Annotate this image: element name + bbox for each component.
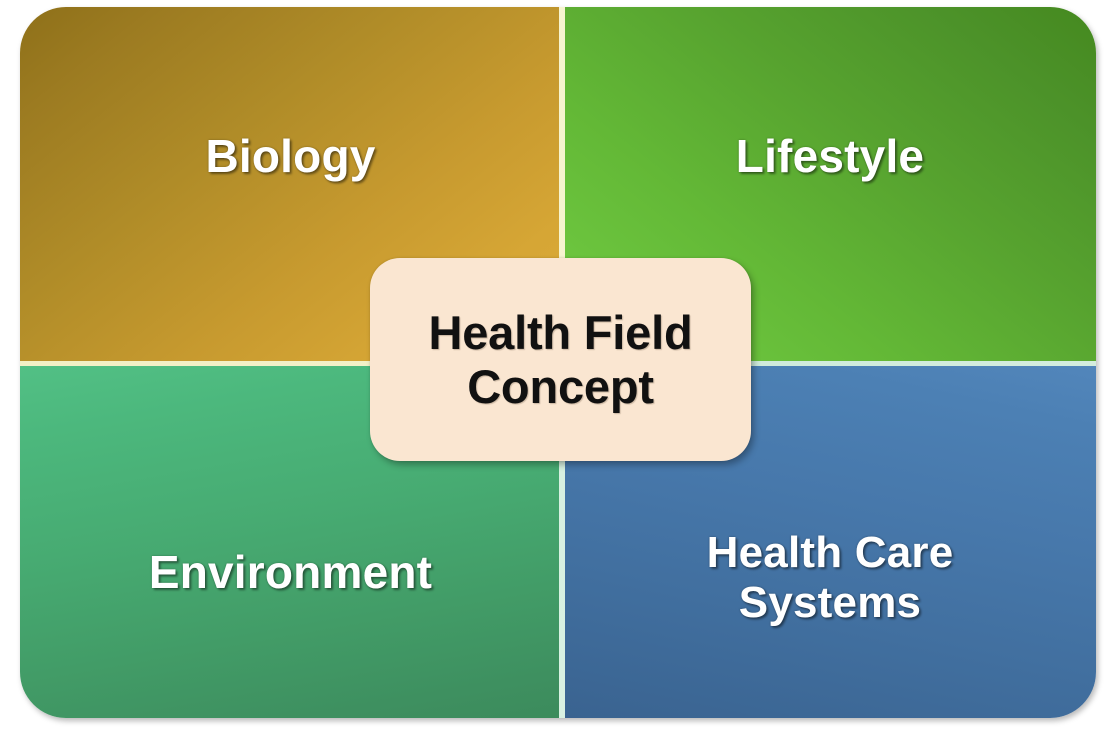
quadrant-environment-label: Environment bbox=[149, 547, 432, 599]
center-card-label: Health Field Concept bbox=[429, 306, 693, 412]
quadrant-biology-label: Biology bbox=[205, 131, 375, 183]
quadrant-lifestyle-label: Lifestyle bbox=[736, 131, 924, 183]
quadrant-health-care-systems-label: Health Care Systems bbox=[707, 528, 954, 627]
health-field-concept-diagram: Biology Lifestyle Environment Health Car… bbox=[0, 0, 1108, 736]
center-card[interactable]: Health Field Concept bbox=[370, 258, 751, 461]
